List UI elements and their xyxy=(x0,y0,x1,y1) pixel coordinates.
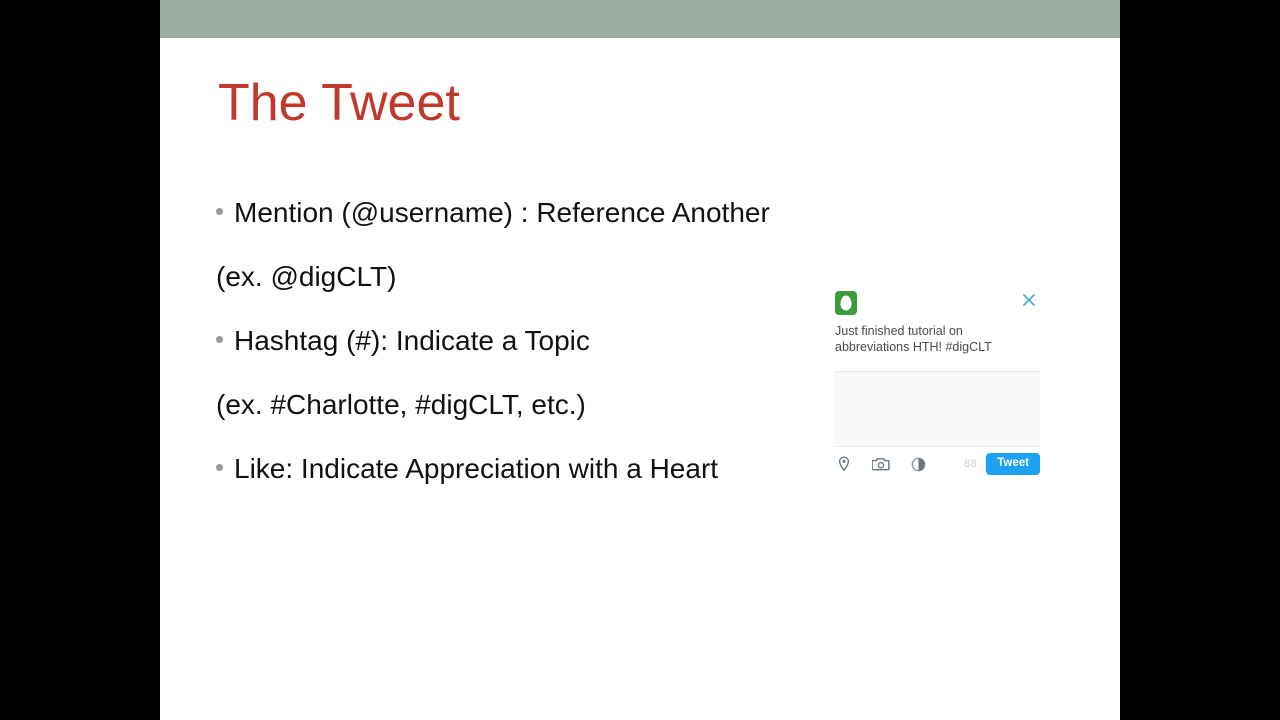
list-item: (ex. #Charlotte, #digCLT, etc.) xyxy=(216,388,876,421)
bullet-dot-icon xyxy=(216,464,223,471)
video-frame: The Tweet Mention (@username) : Referenc… xyxy=(0,0,1280,720)
location-pin-icon[interactable] xyxy=(835,455,853,473)
page-title: The Tweet xyxy=(218,76,460,131)
list-item: Mention (@username) : Reference Another xyxy=(216,196,876,229)
list-item: Like: Indicate Appreciation with a Heart xyxy=(216,452,876,485)
camera-icon[interactable] xyxy=(872,455,890,473)
tweet-compose-widget: Just finished tutorial on abbreviations … xyxy=(825,283,1040,481)
tweet-attachment-panel xyxy=(835,371,1040,447)
list-item-label: Hashtag (#): Indicate a Topic xyxy=(234,324,590,357)
tweet-text[interactable]: Just finished tutorial on abbreviations … xyxy=(835,323,1021,355)
egg-shape xyxy=(841,296,852,311)
bullet-dot-icon xyxy=(216,208,223,215)
bullet-list: Mention (@username) : Reference Another … xyxy=(216,196,876,516)
presentation-slide: The Tweet Mention (@username) : Referenc… xyxy=(160,0,1120,720)
list-item: (ex. @digCLT) xyxy=(216,260,876,293)
slide-top-banner xyxy=(160,0,1120,38)
tweet-button[interactable]: Tweet xyxy=(986,453,1040,476)
tweet-compose-header xyxy=(825,283,1040,317)
character-count: 88 xyxy=(964,458,986,470)
list-item: Hashtag (#): Indicate a Topic xyxy=(216,324,876,357)
list-item-label: Like: Indicate Appreciation with a Heart xyxy=(234,452,718,485)
list-item-label: Mention (@username) : Reference Another xyxy=(234,196,770,229)
egg-avatar-icon xyxy=(835,291,857,315)
close-icon[interactable] xyxy=(1020,291,1038,309)
bullet-dot-icon xyxy=(216,336,223,343)
list-item-label: (ex. @digCLT) xyxy=(216,260,396,293)
tweet-action-bar: 88 Tweet xyxy=(835,447,1040,481)
character-counter-circle-icon xyxy=(909,455,927,473)
list-item-label: (ex. #Charlotte, #digCLT, etc.) xyxy=(216,388,586,421)
